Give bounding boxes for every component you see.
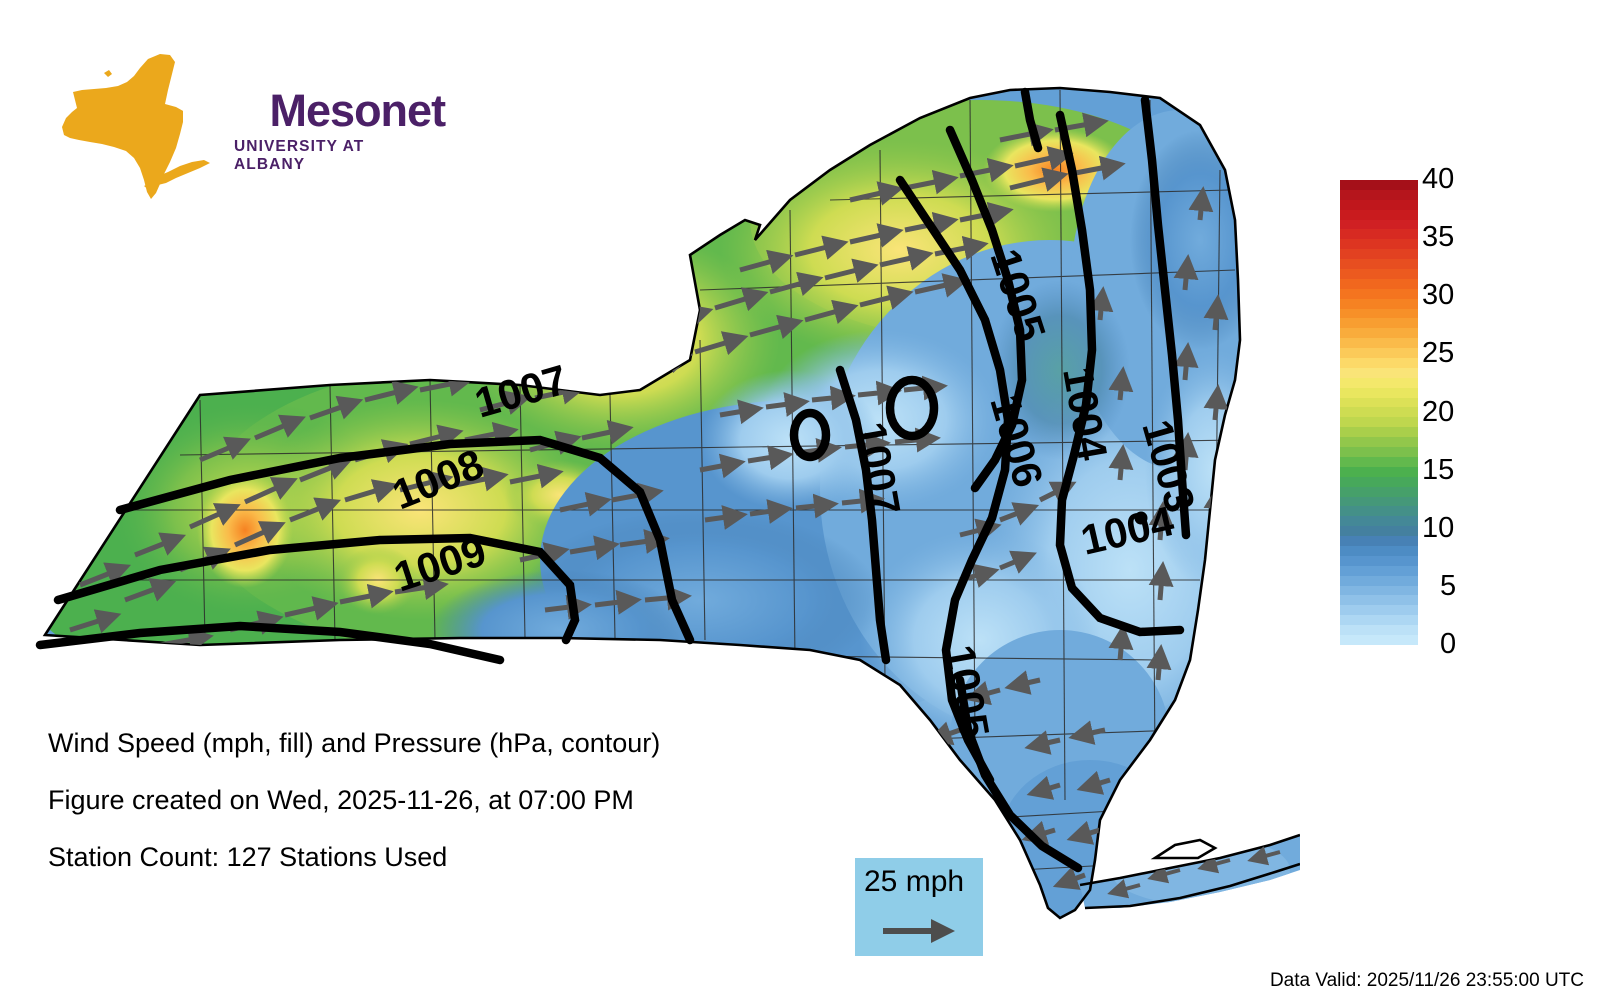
colorbar-band (1340, 516, 1418, 526)
colorbar-band (1340, 328, 1418, 338)
colorbar-band (1340, 407, 1418, 417)
colorbar-band (1340, 289, 1418, 299)
colorbar-tick-40: 40 (1422, 165, 1482, 194)
colorbar-band (1340, 605, 1418, 615)
wind-key-label: 25 mph (864, 865, 964, 899)
colorbar-band (1340, 388, 1418, 398)
colorbar-band (1340, 358, 1418, 368)
colorbar-band (1340, 309, 1418, 319)
caption-title: Wind Speed (mph, fill) and Pressure (hPa… (48, 715, 808, 772)
colorbar-tick-20: 20 (1422, 398, 1482, 427)
colorbar-band (1340, 457, 1418, 467)
colorbar-band (1340, 259, 1418, 269)
colorbar-band (1340, 635, 1418, 645)
colorbar-band (1340, 546, 1418, 556)
colorbar-band (1340, 299, 1418, 309)
colorbar-band (1340, 556, 1418, 566)
colorbar-tick-labels: 4035302520151050 (1422, 170, 1492, 655)
colorbar-band (1340, 338, 1418, 348)
colorbar-tick-30: 30 (1422, 281, 1482, 310)
colorbar-band (1340, 526, 1418, 536)
colorbar-band (1340, 586, 1418, 596)
colorbar-tick-0: 0 (1422, 630, 1500, 659)
caption-created: Figure created on Wed, 2025-11-26, at 07… (48, 772, 808, 829)
colorbar-tick-35: 35 (1422, 223, 1482, 252)
colorbar-band (1340, 566, 1418, 576)
colorbar-band (1340, 595, 1418, 605)
figure-caption: Wind Speed (mph, fill) and Pressure (hPa… (48, 715, 808, 886)
colorbar-band (1340, 210, 1418, 220)
colorbar-band (1340, 417, 1418, 427)
colorbar-band (1340, 398, 1418, 408)
colorbar-band (1340, 378, 1418, 388)
colorbar-band (1340, 536, 1418, 546)
colorbar-band (1340, 318, 1418, 328)
colorbar-band (1340, 477, 1418, 487)
wind-speed-colorbar: 4035302520151050 (1310, 170, 1490, 660)
colorbar-band (1340, 190, 1418, 200)
colorbar-band (1340, 467, 1418, 477)
colorbar-band (1340, 220, 1418, 230)
caption-station-count: Station Count: 127 Stations Used (48, 829, 808, 886)
colorbar-tick-5: 5 (1422, 572, 1500, 601)
colorbar-band (1340, 506, 1418, 516)
colorbar-gradient (1340, 180, 1418, 645)
colorbar-band (1340, 348, 1418, 358)
colorbar-band (1340, 625, 1418, 635)
data-valid-timestamp: Data Valid: 2025/11/26 23:55:00 UTC (1270, 970, 1584, 992)
colorbar-band (1340, 447, 1418, 457)
colorbar-band (1340, 269, 1418, 279)
colorbar-band (1340, 615, 1418, 625)
colorbar-band (1340, 279, 1418, 289)
colorbar-tick-10: 10 (1422, 514, 1482, 543)
colorbar-band (1340, 576, 1418, 586)
colorbar-band (1340, 200, 1418, 210)
colorbar-tick-25: 25 (1422, 339, 1482, 368)
colorbar-band (1340, 437, 1418, 447)
colorbar-band (1340, 427, 1418, 437)
colorbar-band (1340, 180, 1418, 190)
colorbar-tick-15: 15 (1422, 456, 1482, 485)
colorbar-band (1340, 368, 1418, 378)
wind-key-arrow-icon (883, 916, 955, 946)
colorbar-band (1340, 497, 1418, 507)
colorbar-band (1340, 487, 1418, 497)
wind-speed-reference-key: 25 mph (855, 858, 983, 956)
colorbar-band (1340, 229, 1418, 239)
low-pressure-center-marker (1135, 512, 1148, 525)
colorbar-band (1340, 249, 1418, 259)
colorbar-band (1340, 239, 1418, 249)
